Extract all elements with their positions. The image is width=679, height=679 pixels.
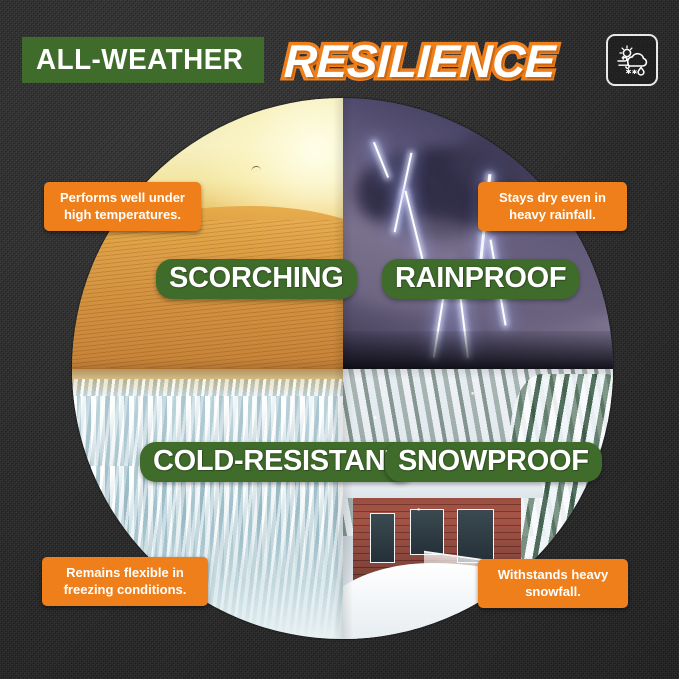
title-accent-text: RESILIENCE [283, 32, 556, 90]
label-scorching-text: SCORCHING [169, 263, 344, 293]
label-rainproof: RAINPROOF [382, 259, 579, 299]
callout-heavy-snowfall: Withstands heavy snowfall. [478, 559, 628, 608]
callout-high-temperatures: Performs well under high temperatures. [44, 182, 201, 231]
label-cold-resistant: COLD-RESISTANT [140, 442, 416, 482]
weather-mixed-icon [606, 34, 658, 86]
title-primary-text: ALL-WEATHER [36, 46, 243, 75]
title-primary-block: ALL-WEATHER [22, 37, 264, 83]
callout-heavy-rainfall: Stays dry even in heavy rainfall. [478, 182, 627, 231]
label-scorching: SCORCHING [156, 259, 357, 299]
label-cold-resistant-text: COLD-RESISTANT [153, 446, 403, 476]
callout-freezing-conditions: Remains flexible in freezing conditions. [42, 557, 208, 606]
title-accent-block: RESILIENCE [284, 32, 555, 90]
storm-horizon [343, 331, 614, 369]
quadrant-scorching-image [72, 98, 343, 369]
header-banner: ALL-WEATHER RESILIENCE [22, 32, 658, 90]
label-rainproof-text: RAINPROOF [395, 263, 566, 293]
label-snowproof-text: SNOWPROOF [398, 446, 589, 476]
infographic-canvas: ALL-WEATHER RESILIENCE [0, 0, 679, 679]
quadrant-rainproof-image [343, 98, 614, 369]
label-snowproof: SNOWPROOF [385, 442, 602, 482]
